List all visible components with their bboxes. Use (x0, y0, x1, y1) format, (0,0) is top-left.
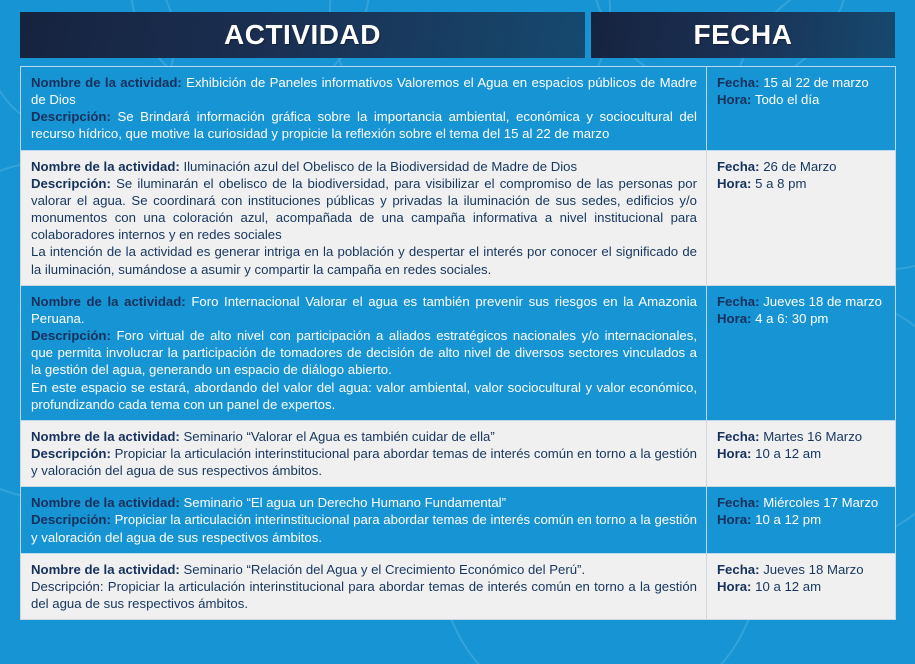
activity-cell: Nombre de la actividad: Foro Internacion… (21, 285, 707, 420)
date-cell: Fecha: 26 de MarzoHora: 5 a 8 pm (707, 150, 896, 285)
activity-name-label: Nombre de la actividad: (31, 562, 180, 577)
activity-description-label: Descripción: (31, 328, 111, 343)
date-label: Fecha: (717, 562, 760, 577)
time-value: 4 a 6: 30 pm (755, 311, 828, 326)
date-label: Fecha: (717, 294, 760, 309)
time-value: 10 a 12 am (755, 446, 821, 461)
date-value: 15 al 22 de marzo (763, 75, 869, 90)
date-label: Fecha: (717, 429, 760, 444)
activity-description-value: Se Brindará información gráfica sobre la… (31, 109, 697, 141)
table-row: Nombre de la actividad: Foro Internacion… (21, 285, 896, 420)
activity-cell: Nombre de la actividad: Seminario “Valor… (21, 420, 707, 486)
slide-root: ACTIVIDAD FECHA Nombre de la actividad: … (0, 0, 915, 664)
activity-name-label: Nombre de la actividad: (31, 429, 180, 444)
activity-cell: Nombre de la actividad: Exhibición de Pa… (21, 67, 707, 151)
activity-description-value: Foro virtual de alto nivel con participa… (31, 328, 697, 377)
time-value: 10 a 12 pm (755, 512, 821, 527)
table-header-band: ACTIVIDAD FECHA (20, 12, 895, 58)
activity-extra-text: En este espacio se estará, abordando del… (31, 379, 697, 413)
time-value: 10 a 12 am (755, 579, 821, 594)
column-header-actividad: ACTIVIDAD (20, 12, 585, 58)
date-label: Fecha: (717, 159, 760, 174)
date-value: Miércoles 17 Marzo (763, 495, 878, 510)
table-row: Nombre de la actividad: Seminario “Valor… (21, 420, 896, 486)
date-value: Jueves 18 de marzo (763, 294, 882, 309)
table-row: Nombre de la actividad: Exhibición de Pa… (21, 67, 896, 151)
activity-name-label: Nombre de la actividad: (31, 495, 180, 510)
time-value: 5 a 8 pm (755, 176, 806, 191)
activity-name-label: Nombre de la actividad: (31, 294, 186, 309)
time-label: Hora: (717, 92, 751, 107)
table-row: Nombre de la actividad: Seminario “Relac… (21, 553, 896, 619)
activity-name-value: Iluminación azul del Obelisco de la Biod… (183, 159, 577, 174)
activity-cell: Nombre de la actividad: Seminario “El ag… (21, 487, 707, 553)
activities-table-body: Nombre de la actividad: Exhibición de Pa… (21, 67, 896, 620)
date-value: 26 de Marzo (763, 159, 836, 174)
time-label: Hora: (717, 579, 751, 594)
activity-description-value: Propiciar la articulación interinstituci… (31, 579, 697, 611)
date-value: Martes 16 Marzo (763, 429, 862, 444)
date-cell: Fecha: 15 al 22 de marzoHora: Todo el dí… (707, 67, 896, 151)
activity-name-value: Seminario “Relación del Agua y el Crecim… (183, 562, 585, 577)
activity-cell: Nombre de la actividad: Seminario “Relac… (21, 553, 707, 619)
activity-name-value: Seminario “El agua un Derecho Humano Fun… (183, 495, 506, 510)
activity-name-label: Nombre de la actividad: (31, 75, 182, 90)
date-cell: Fecha: Martes 16 MarzoHora: 10 a 12 am (707, 420, 896, 486)
activity-description-value: Se iluminarán el obelisco de la biodiver… (31, 176, 697, 242)
date-label: Fecha: (717, 75, 760, 90)
date-cell: Fecha: Jueves 18 MarzoHora: 10 a 12 am (707, 553, 896, 619)
time-label: Hora: (717, 512, 751, 527)
activity-description-label: Descripción: (31, 512, 111, 527)
column-header-fecha: FECHA (591, 12, 895, 58)
activity-description-label: Descripción: (31, 176, 111, 191)
activity-cell: Nombre de la actividad: Iluminación azul… (21, 150, 707, 285)
date-label: Fecha: (717, 495, 760, 510)
time-value: Todo el día (755, 92, 820, 107)
table-row: Nombre de la actividad: Seminario “El ag… (21, 487, 896, 553)
activity-description-value: Propiciar la articulación interinstituci… (31, 512, 697, 544)
activity-description-label: Descripción: (31, 109, 111, 124)
date-value: Jueves 18 Marzo (763, 562, 863, 577)
time-label: Hora: (717, 311, 751, 326)
activity-description-value: Propiciar la articulación interinstituci… (31, 446, 697, 478)
activity-name-value: Seminario “Valorar el Agua es también cu… (183, 429, 494, 444)
date-cell: Fecha: Miércoles 17 MarzoHora: 10 a 12 p… (707, 487, 896, 553)
activity-description-label: Descripción: (31, 446, 111, 461)
activities-table: Nombre de la actividad: Exhibición de Pa… (20, 66, 896, 620)
date-cell: Fecha: Jueves 18 de marzoHora: 4 a 6: 30… (707, 285, 896, 420)
activity-name-label: Nombre de la actividad: (31, 159, 180, 174)
time-label: Hora: (717, 446, 751, 461)
activity-description-label: Descripción: (31, 579, 104, 594)
table-row: Nombre de la actividad: Iluminación azul… (21, 150, 896, 285)
time-label: Hora: (717, 176, 751, 191)
activity-extra-text: La intención de la actividad es generar … (31, 243, 697, 277)
